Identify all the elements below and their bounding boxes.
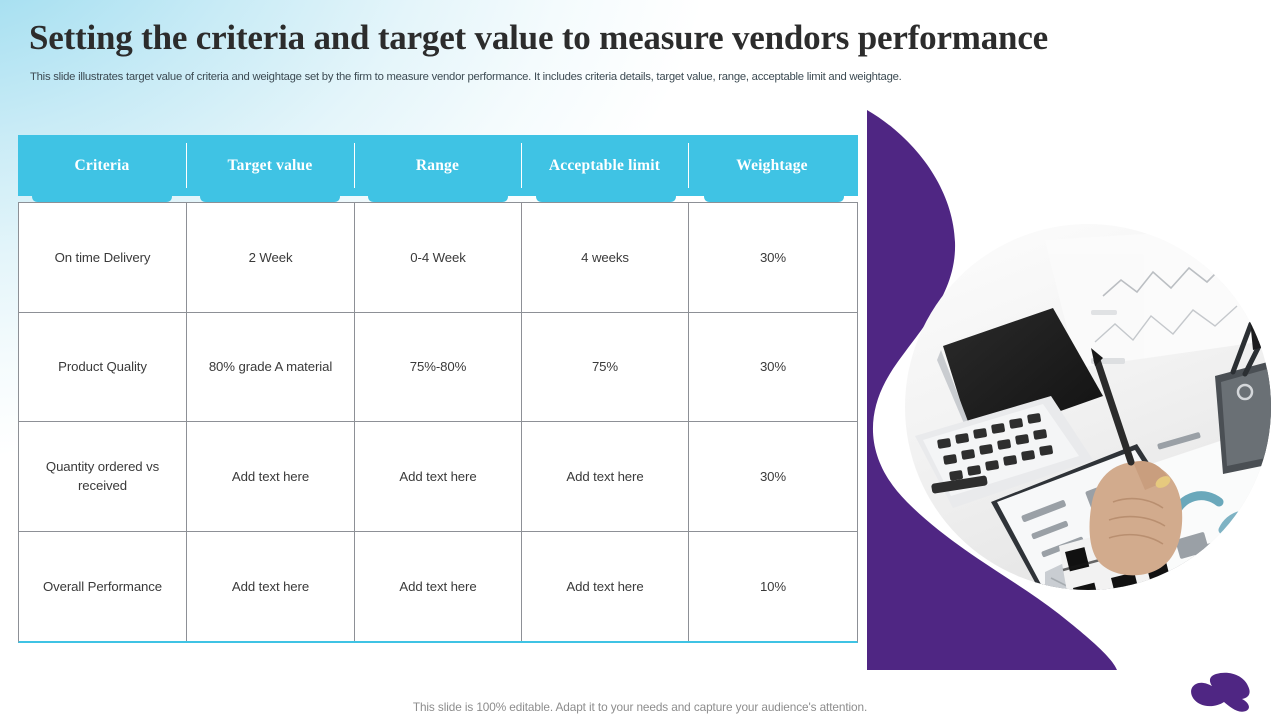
- slide-canvas: Setting the criteria and target value to…: [0, 0, 1280, 720]
- cell-range[interactable]: 0-4 Week: [355, 203, 522, 312]
- table-body: On time Delivery 2 Week 0-4 Week 4 weeks…: [18, 202, 858, 643]
- cell-acceptable-limit[interactable]: 75%: [522, 313, 689, 422]
- cell-acceptable-limit[interactable]: 4 weeks: [522, 203, 689, 312]
- column-header-criteria[interactable]: Criteria: [18, 135, 186, 196]
- cell-acceptable-limit[interactable]: Add text here: [522, 422, 689, 531]
- clipboard-report: [991, 444, 1213, 626]
- table-row: Overall Performance Add text here Add te…: [19, 532, 857, 642]
- cell-range[interactable]: 75%-80%: [355, 313, 522, 422]
- table-header-row: Criteria Target value Range Acceptable l…: [18, 135, 858, 202]
- cell-weightage[interactable]: 30%: [689, 422, 857, 531]
- cell-target-value[interactable]: Add text here: [187, 532, 355, 642]
- workspace-laptop-charts-photo: [905, 224, 1280, 670]
- report-sheet-gauges: [1145, 426, 1279, 586]
- cell-criteria[interactable]: On time Delivery: [19, 203, 187, 312]
- cell-target-value[interactable]: 80% grade A material: [187, 313, 355, 422]
- cell-target-value[interactable]: Add text here: [187, 422, 355, 531]
- purple-wave-blob: [867, 110, 1117, 670]
- pencil: [1091, 348, 1131, 462]
- right-decoration-group: [845, 110, 1280, 670]
- column-header-range[interactable]: Range: [354, 135, 521, 196]
- table-row: On time Delivery 2 Week 0-4 Week 4 weeks…: [19, 203, 857, 313]
- cell-weightage[interactable]: 30%: [689, 203, 857, 312]
- cell-acceptable-limit[interactable]: Add text here: [522, 532, 689, 642]
- page-subtitle: This slide illustrates target value of c…: [30, 70, 902, 85]
- pen-holder: [1215, 324, 1280, 474]
- column-header-acceptable-limit[interactable]: Acceptable limit: [521, 135, 688, 196]
- laptop-shape: [915, 308, 1103, 508]
- cell-criteria[interactable]: Overall Performance: [19, 532, 187, 642]
- table-row: Product Quality 80% grade A material 75%…: [19, 313, 857, 423]
- slide-header: Setting the criteria and target value to…: [0, 0, 1280, 100]
- cell-criteria[interactable]: Quantity ordered vs received: [19, 422, 187, 531]
- hand-with-pencil: [1059, 348, 1182, 670]
- cell-target-value[interactable]: 2 Week: [187, 203, 355, 312]
- table-row: Quantity ordered vs received Add text he…: [19, 422, 857, 532]
- footer-note: This slide is 100% editable. Adapt it to…: [0, 700, 1280, 714]
- criteria-table: Criteria Target value Range Acceptable l…: [18, 135, 858, 643]
- page-title: Setting the criteria and target value to…: [29, 17, 1048, 58]
- cell-range[interactable]: Add text here: [355, 422, 522, 531]
- cell-weightage[interactable]: 30%: [689, 313, 857, 422]
- column-header-weightage[interactable]: Weightage: [688, 135, 856, 196]
- column-header-target-value[interactable]: Target value: [186, 135, 354, 196]
- plaid-sleeve: [1059, 522, 1182, 670]
- cell-criteria[interactable]: Product Quality: [19, 313, 187, 422]
- cell-weightage[interactable]: 10%: [689, 532, 857, 642]
- cell-range[interactable]: Add text here: [355, 532, 522, 642]
